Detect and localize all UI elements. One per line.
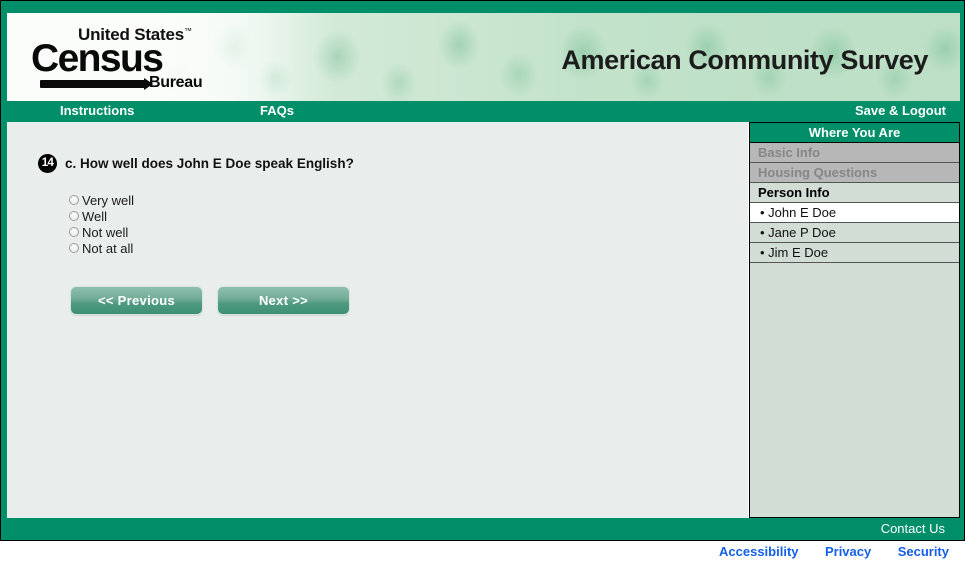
census-bureau-logo: United States™ Census Bureau <box>31 25 186 91</box>
previous-button[interactable]: << Previous <box>70 286 203 315</box>
option-not-at-all[interactable]: Not at all <box>69 240 134 256</box>
radio-button-icon[interactable] <box>69 243 79 253</box>
page-title: American Community Survey <box>561 45 928 76</box>
nav-item-save-and-logout[interactable]: Save & Logout <box>855 103 946 118</box>
footer-green-bar: Contact Us <box>7 518 960 540</box>
nav-item-instructions[interactable]: Instructions <box>60 103 134 118</box>
option-label: Not well <box>82 225 128 240</box>
sidebar-title: Where You Are <box>750 123 959 143</box>
radio-button-icon[interactable] <box>69 195 79 205</box>
main-nav-bar: Instructions FAQs Save & Logout <box>7 101 960 122</box>
bottom-links-row: Accessibility Privacy Security <box>0 543 965 561</box>
privacy-link[interactable]: Privacy <box>825 544 871 559</box>
question-text: c. How well does John E Doe speak Englis… <box>65 156 354 171</box>
logo-bureau-text: Bureau <box>149 74 202 92</box>
sidebar-item-john-e-doe[interactable]: • John E Doe <box>750 203 959 223</box>
top-green-band <box>1 1 964 13</box>
sidebar-item-person-info[interactable]: Person Info <box>750 183 959 203</box>
radio-button-icon[interactable] <box>69 227 79 237</box>
sidebar-item-jane-p-doe[interactable]: • Jane P Doe <box>750 223 959 243</box>
acs-survey-page: United States™ Census Bureau American Co… <box>0 0 965 561</box>
sidebar-item-jim-e-doe[interactable]: • Jim E Doe <box>750 243 959 263</box>
option-very-well[interactable]: Very well <box>69 192 134 208</box>
question-header: 14 c. How well does John E Doe speak Eng… <box>38 154 728 173</box>
page-frame: United States™ Census Bureau American Co… <box>0 0 965 541</box>
radio-button-icon[interactable] <box>69 211 79 221</box>
answer-options-group: Very well Well Not well Not at all <box>69 192 134 256</box>
survey-content-panel: 14 c. How well does John E Doe speak Eng… <box>7 122 748 518</box>
contact-us-link[interactable]: Contact Us <box>881 521 945 536</box>
option-label: Very well <box>82 193 134 208</box>
security-link[interactable]: Security <box>898 544 949 559</box>
logo-arrow-bar-icon <box>40 80 145 88</box>
logo-census-wordmark: Census <box>31 39 162 79</box>
nav-item-faqs[interactable]: FAQs <box>260 103 294 118</box>
option-label: Not at all <box>82 241 133 256</box>
option-label: Well <box>82 209 107 224</box>
where-you-are-sidebar: Where You Are Basic Info Housing Questio… <box>749 122 960 518</box>
accessibility-link[interactable]: Accessibility <box>719 544 799 559</box>
sidebar-item-basic-info[interactable]: Basic Info <box>750 143 959 163</box>
next-button[interactable]: Next >> <box>217 286 350 315</box>
question-number-badge: 14 <box>38 154 57 173</box>
right-green-rail <box>960 13 964 540</box>
logo-trademark-symbol: ™ <box>184 26 192 35</box>
option-well[interactable]: Well <box>69 208 134 224</box>
option-not-well[interactable]: Not well <box>69 224 134 240</box>
sidebar-item-housing-questions[interactable]: Housing Questions <box>750 163 959 183</box>
